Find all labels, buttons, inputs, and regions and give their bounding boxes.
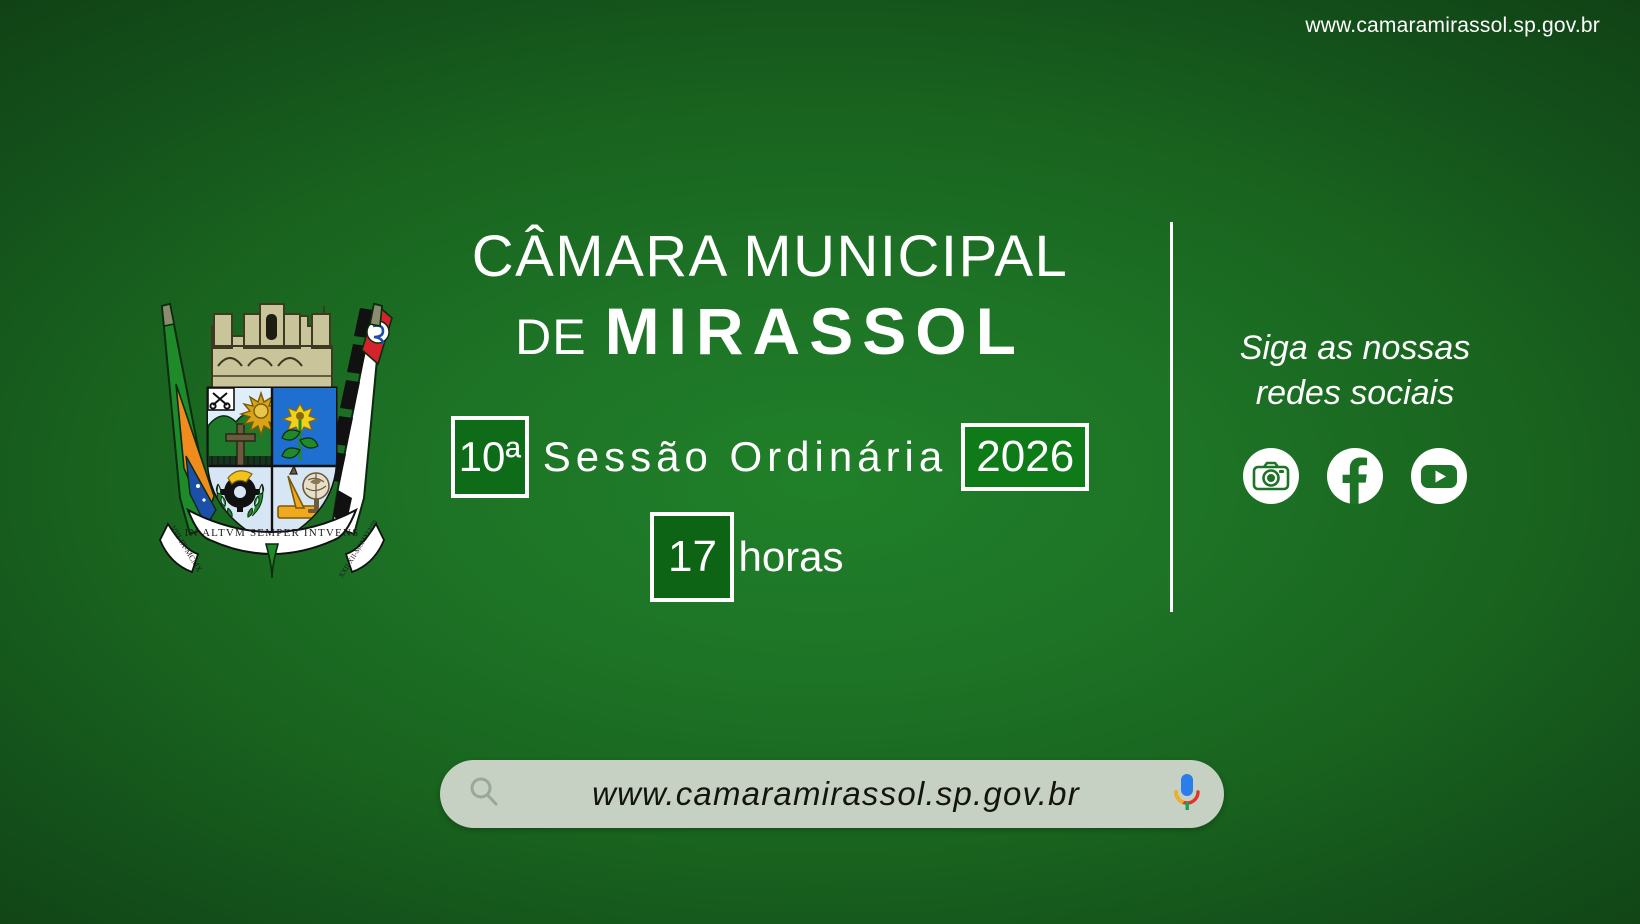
youtube-icon[interactable] <box>1411 448 1467 504</box>
hour-row: 17 horas <box>420 512 1120 602</box>
session-row: 10ª Sessão Ordinária 2026 <box>420 416 1120 498</box>
search-bar[interactable]: www.camaramirassol.sp.gov.br <box>440 760 1224 828</box>
social-block: Siga as nossas redes sociais <box>1190 326 1520 504</box>
shield <box>208 388 336 544</box>
vertical-divider <box>1170 222 1173 612</box>
session-year-badge: 2026 <box>961 423 1089 491</box>
facebook-icon[interactable] <box>1327 448 1383 504</box>
session-hour-badge: 17 <box>650 512 734 602</box>
social-icon-list <box>1190 448 1520 504</box>
session-label: Sessão Ordinária <box>543 433 948 481</box>
mural-crown <box>212 304 332 390</box>
headline-block: CÂMARA MUNICIPAL DE MIRASSOL 10ª Sessão … <box>420 228 1120 618</box>
search-icon <box>466 774 502 815</box>
title-city: MIRASSOL <box>605 298 1025 364</box>
search-input[interactable]: www.camaramirassol.sp.gov.br <box>502 775 1170 813</box>
microphone-icon[interactable] <box>1170 770 1204 819</box>
sao-paulo-flag <box>328 304 392 534</box>
instagram-icon[interactable] <box>1243 448 1299 504</box>
session-hour-label: horas <box>738 533 843 581</box>
page-title-line2: DE MIRASSOL <box>420 298 1120 364</box>
page-title-line1: CÂMARA MUNICIPAL <box>420 228 1120 286</box>
social-caption-line2: redes sociais <box>1190 371 1520 416</box>
title-prefix: DE <box>515 312 586 362</box>
site-url-header: www.camaramirassol.sp.gov.br <box>1305 14 1600 38</box>
session-ordinal-badge: 10ª <box>451 416 529 498</box>
coat-of-arms: IN ALTVM SEMPER INTVENS VIII-IX-MCMX XXI… <box>140 288 404 584</box>
promo-banner: www.camaramirassol.sp.gov.br <box>0 0 1640 924</box>
social-caption-line1: Siga as nossas <box>1190 326 1520 371</box>
svg-text:IN ALTVM SEMPER INTVENS: IN ALTVM SEMPER INTVENS <box>185 527 360 539</box>
